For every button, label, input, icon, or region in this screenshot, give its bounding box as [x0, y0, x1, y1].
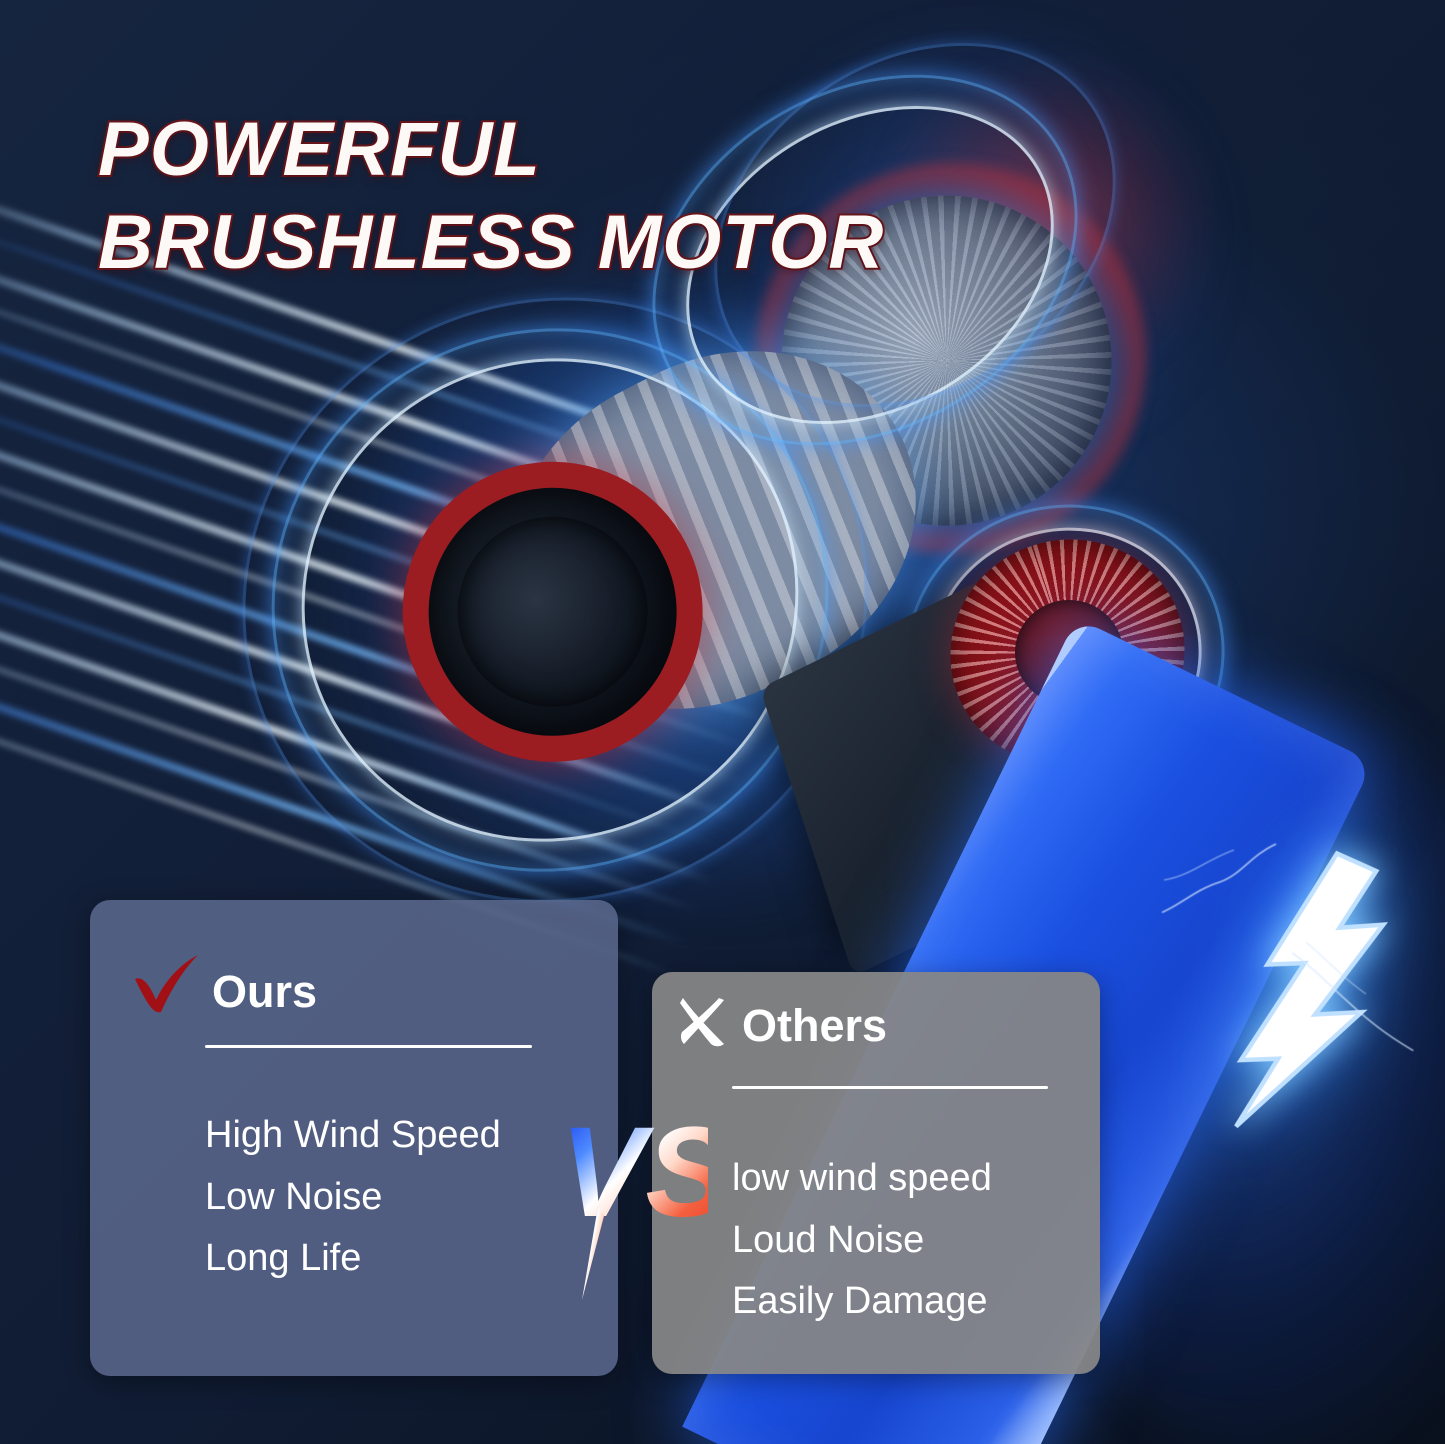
ours-card-title: Ours — [212, 969, 317, 1016]
others-feature-item: low wind speed — [732, 1148, 992, 1210]
headline-line-2: BRUSHLESS MOTOR — [98, 197, 1218, 290]
energy-swirl-ring — [224, 279, 876, 921]
comparison-card-others[interactable]: Others low wind speed Loud Noise Easily … — [652, 972, 1100, 1374]
ours-feature-item: Long Life — [205, 1228, 501, 1290]
headline-line-1: POWERFUL — [98, 107, 541, 192]
energy-swirl-ring — [184, 239, 915, 960]
ours-title-rule — [205, 1045, 532, 1048]
others-feature-item: Loud Noise — [732, 1210, 992, 1272]
ours-feature-item: Low Noise — [205, 1167, 501, 1229]
ours-feature-list: High Wind Speed Low Noise Long Life — [205, 1105, 501, 1290]
check-icon — [130, 952, 202, 1016]
x-icon — [674, 994, 734, 1050]
others-feature-list: low wind speed Loud Noise Easily Damage — [732, 1148, 992, 1333]
product-feature-banner: POWERFUL BRUSHLESS MOTOR Ours High Wind … — [0, 0, 1445, 1444]
others-card-header: Others — [674, 994, 887, 1050]
ours-card-header: Ours — [130, 952, 317, 1016]
comparison-card-ours[interactable]: Ours High Wind Speed Low Noise Long Life — [90, 900, 618, 1376]
page-title: POWERFUL BRUSHLESS MOTOR — [98, 104, 1218, 289]
others-title-rule — [732, 1086, 1048, 1089]
ours-feature-item: High Wind Speed — [205, 1105, 501, 1167]
others-card-title: Others — [742, 1003, 887, 1050]
others-feature-item: Easily Damage — [732, 1271, 992, 1333]
